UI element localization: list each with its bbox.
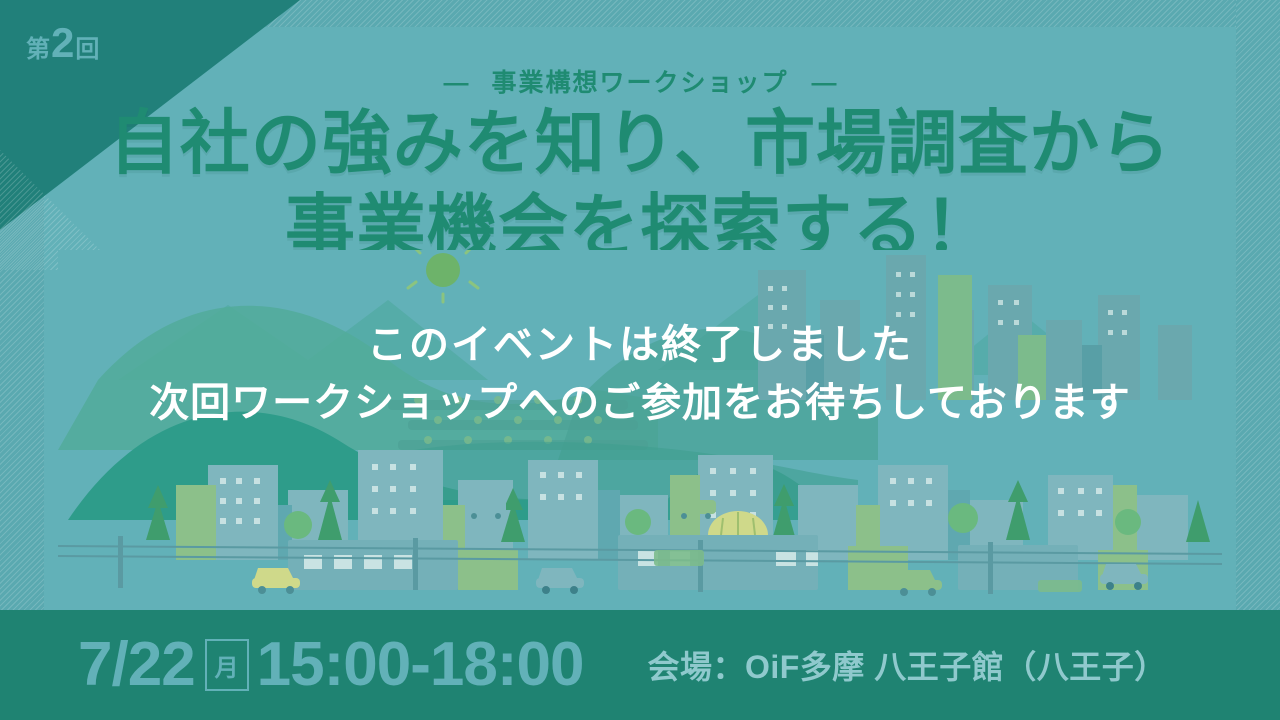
event-datetime: 7/22 月 15:00-18:00 (78, 634, 583, 696)
event-weekday-badge: 月 (205, 639, 249, 691)
city-townscape-illustration (58, 250, 1222, 610)
event-subtitle: — 事業構想ワークショップ — (0, 63, 1280, 99)
edition-badge: 第 2 回 (26, 22, 99, 64)
subtitle-text: 事業構想ワークショップ (491, 69, 788, 97)
event-ended-message-line1: このイベントは終了しました (0, 320, 1280, 370)
event-banner: 第 2 回 — 事業構想ワークショップ — 自社の強みを知り、市場調査から 事業… (0, 0, 1280, 720)
event-title-line1: 自社の強みを知り、市場調査から (0, 108, 1280, 178)
subtitle-dash-right: — (797, 69, 850, 97)
edition-badge-suffix: 回 (75, 38, 99, 62)
subtitle-dash-left: — (430, 69, 483, 97)
event-date: 7/22 (78, 634, 195, 696)
edition-badge-number: 2 (51, 22, 74, 64)
event-footer-bar: 7/22 月 15:00-18:00 会場：OiF多摩 八王子館（八王子） (0, 610, 1280, 720)
event-time: 15:00-18:00 (257, 634, 584, 696)
edition-badge-prefix: 第 (26, 38, 50, 62)
event-ended-message-line2: 次回ワークショップへのご参加をお待ちしております (0, 378, 1280, 428)
event-venue: 会場：OiF多摩 八王子館（八王子） (647, 642, 1166, 688)
